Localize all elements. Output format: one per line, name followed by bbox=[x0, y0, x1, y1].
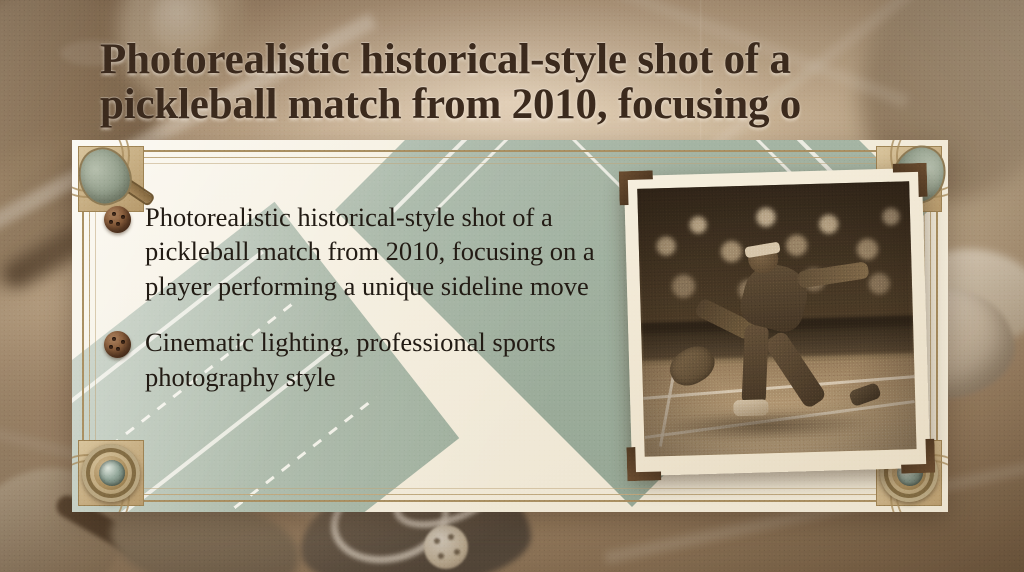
global-film-grain bbox=[0, 0, 1024, 572]
slide-root: Photorealistic historical-style shot of … bbox=[0, 0, 1024, 572]
